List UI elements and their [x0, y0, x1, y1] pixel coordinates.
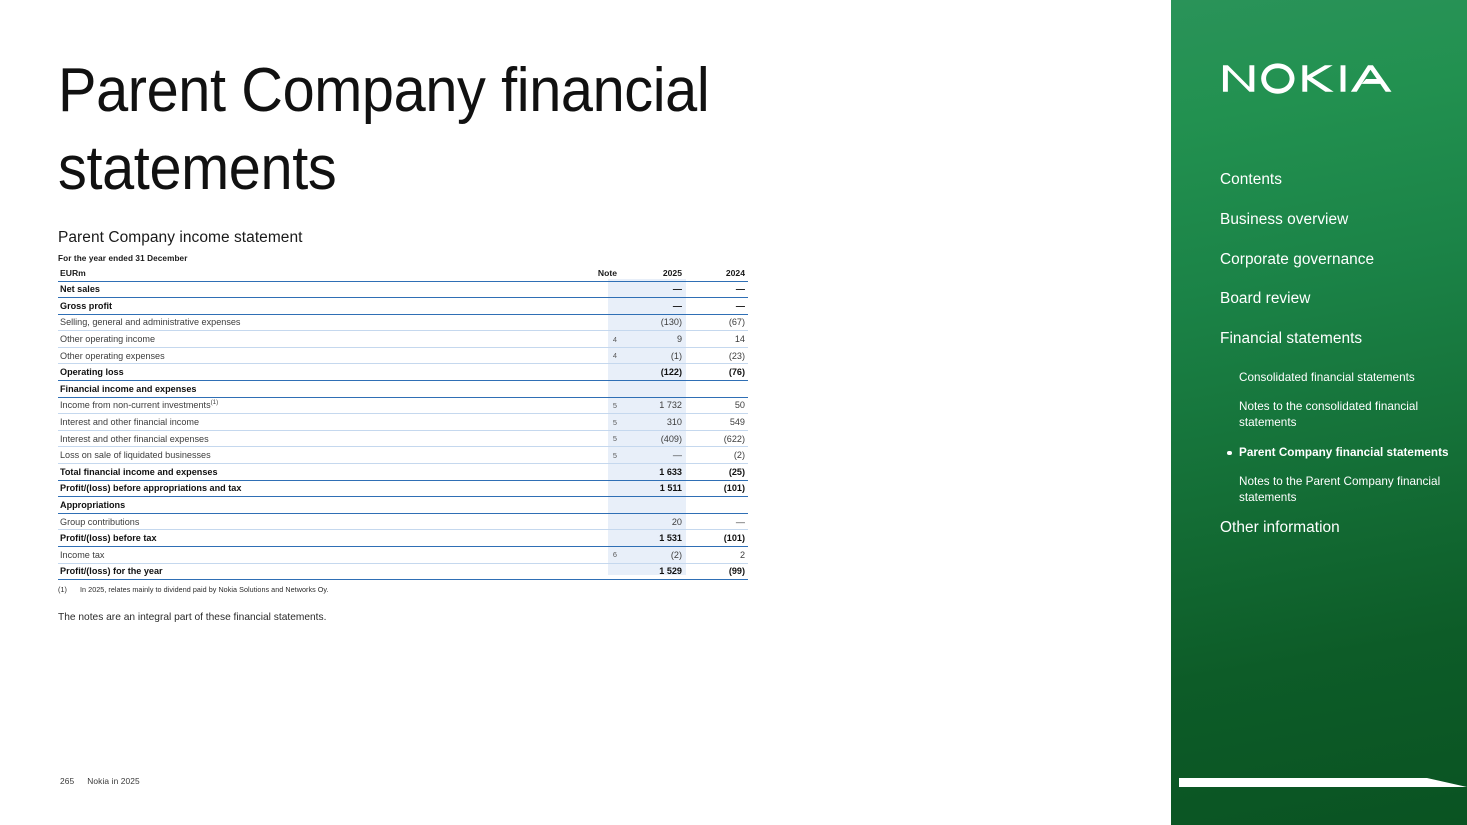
row-note-ref	[578, 464, 622, 481]
section-title: Parent Company income statement	[58, 229, 303, 247]
sidebar-item-parent-company-financial-statements[interactable]: Parent Company financial statements	[1239, 445, 1460, 461]
row-note-ref	[578, 513, 622, 530]
sidebar-item-financial-statements[interactable]: Financial statements	[1220, 330, 1460, 349]
sidebar-item-board-review[interactable]: Board review	[1220, 290, 1460, 309]
row-label: Selling, general and administrative expe…	[58, 314, 578, 331]
row-value-2024	[685, 381, 748, 398]
row-value-2025: 310	[622, 414, 685, 431]
table-row: Loss on sale of liquidated businesses5—(…	[58, 447, 748, 464]
row-label: Interest and other financial income	[58, 414, 578, 431]
table-row: Net sales——	[58, 281, 748, 298]
row-note-ref	[578, 381, 622, 398]
row-value-2025: —	[622, 447, 685, 464]
row-value-2024: (101)	[685, 530, 748, 547]
main-content: Parent Company financial statements Pare…	[0, 0, 1171, 825]
table-row: Income from non-current investments(1)51…	[58, 397, 748, 414]
row-label: Gross profit	[58, 298, 578, 315]
row-note-ref: 5	[578, 397, 622, 414]
table-row: Gross profit——	[58, 298, 748, 315]
page-root: Parent Company financial statements Pare…	[0, 0, 1467, 825]
row-label: Loss on sale of liquidated businesses	[58, 447, 578, 464]
row-label: Profit/(loss) for the year	[58, 563, 578, 580]
sidebar: ContentsBusiness overviewCorporate gover…	[1171, 0, 1467, 825]
row-value-2024: (76)	[685, 364, 748, 381]
income-statement-table: EURm Note 2025 2024 Net sales——Gross pro…	[58, 266, 748, 580]
column-header-label: EURm	[58, 266, 578, 281]
row-note-ref: 5	[578, 414, 622, 431]
sidebar-item-consolidated-financial-statements[interactable]: Consolidated financial statements	[1239, 370, 1460, 386]
row-value-2025: (2)	[622, 547, 685, 564]
row-value-2024: (101)	[685, 480, 748, 497]
row-value-2025: (409)	[622, 430, 685, 447]
row-note-ref	[578, 497, 622, 514]
row-label: Operating loss	[58, 364, 578, 381]
row-value-2025: 1 531	[622, 530, 685, 547]
row-value-2024: (99)	[685, 563, 748, 580]
row-value-2025: (122)	[622, 364, 685, 381]
row-value-2024: (622)	[685, 430, 748, 447]
row-value-2025: —	[622, 281, 685, 298]
row-label: Group contributions	[58, 513, 578, 530]
row-note-ref: 5	[578, 430, 622, 447]
row-label: Appropriations	[58, 497, 578, 514]
row-label: Other operating expenses	[58, 347, 578, 364]
row-value-2025: —	[622, 298, 685, 315]
row-value-2025: 1 529	[622, 563, 685, 580]
table-caption: For the year ended 31 December	[58, 254, 188, 263]
table-row: Appropriations	[58, 497, 748, 514]
row-value-2024	[685, 497, 748, 514]
row-label: Profit/(loss) before appropriations and …	[58, 480, 578, 497]
table-footnote: (1)In 2025, relates mainly to dividend p…	[58, 585, 329, 594]
footer-page-number: 265	[60, 776, 74, 786]
row-note-ref: 4	[578, 331, 622, 348]
row-label: Interest and other financial expenses	[58, 430, 578, 447]
row-footnote-marker: (1)	[211, 399, 219, 406]
row-label: Income tax	[58, 547, 578, 564]
table-row: Profit/(loss) before tax1 531(101)	[58, 530, 748, 547]
row-note-ref: 6	[578, 547, 622, 564]
nokia-logo-icon[interactable]	[1221, 55, 1417, 103]
table-row: Total financial income and expenses1 633…	[58, 464, 748, 481]
row-value-2024: (2)	[685, 447, 748, 464]
row-label: Other operating income	[58, 331, 578, 348]
sidebar-bottom-accent	[1179, 778, 1467, 787]
income-statement-table-wrap: EURm Note 2025 2024 Net sales——Gross pro…	[58, 266, 748, 580]
row-label: Profit/(loss) before tax	[58, 530, 578, 547]
row-note-ref	[578, 563, 622, 580]
row-value-2025: (130)	[622, 314, 685, 331]
sidebar-item-notes-to-the-parent-company-financial-statements[interactable]: Notes to the Parent Company financial st…	[1239, 474, 1460, 505]
column-header-note: Note	[578, 266, 622, 281]
table-row: Operating loss(122)(76)	[58, 364, 748, 381]
footer-document-title: Nokia in 2025	[87, 776, 140, 786]
table-row: Other operating income4914	[58, 331, 748, 348]
row-value-2025: 1 732	[622, 397, 685, 414]
row-value-2025: 1 511	[622, 480, 685, 497]
sidebar-item-contents[interactable]: Contents	[1220, 171, 1460, 190]
row-value-2024: (25)	[685, 464, 748, 481]
table-row: Financial income and expenses	[58, 381, 748, 398]
row-label: Net sales	[58, 281, 578, 298]
row-value-2025: 20	[622, 513, 685, 530]
table-row: Income tax6(2)2	[58, 547, 748, 564]
row-value-2025: (1)	[622, 347, 685, 364]
column-header-2024: 2024	[685, 266, 748, 281]
sidebar-item-notes-to-the-consolidated-financial-statements[interactable]: Notes to the consolidated financial stat…	[1239, 399, 1460, 430]
row-note-ref	[578, 314, 622, 331]
row-value-2024: 2	[685, 547, 748, 564]
row-value-2024: 50	[685, 397, 748, 414]
sidebar-nav: ContentsBusiness overviewCorporate gover…	[1220, 171, 1460, 559]
notes-statement: The notes are an integral part of these …	[58, 612, 326, 623]
row-label: Income from non-current investments(1)	[58, 397, 578, 414]
row-value-2024: —	[685, 513, 748, 530]
row-value-2024: 549	[685, 414, 748, 431]
column-header-2025: 2025	[622, 266, 685, 281]
table-row: Profit/(loss) for the year1 529(99)	[58, 563, 748, 580]
row-value-2025: 1 633	[622, 464, 685, 481]
page-footer: 265Nokia in 2025	[60, 776, 140, 786]
row-value-2024: —	[685, 281, 748, 298]
footnote-text: In 2025, relates mainly to dividend paid…	[80, 585, 329, 594]
row-value-2025: 9	[622, 331, 685, 348]
row-note-ref: 4	[578, 347, 622, 364]
row-value-2025	[622, 497, 685, 514]
row-note-ref	[578, 530, 622, 547]
row-value-2025	[622, 381, 685, 398]
sidebar-item-business-overview[interactable]: Business overview	[1220, 211, 1460, 230]
sidebar-item-corporate-governance[interactable]: Corporate governance	[1220, 251, 1460, 270]
table-row: Profit/(loss) before appropriations and …	[58, 480, 748, 497]
table-row: Interest and other financial income53105…	[58, 414, 748, 431]
row-label: Total financial income and expenses	[58, 464, 578, 481]
row-value-2024: (23)	[685, 347, 748, 364]
sidebar-item-other-information[interactable]: Other information	[1220, 519, 1460, 538]
table-row: Interest and other financial expenses5(4…	[58, 430, 748, 447]
row-value-2024: —	[685, 298, 748, 315]
table-row: Selling, general and administrative expe…	[58, 314, 748, 331]
table-row: Group contributions20—	[58, 513, 748, 530]
row-note-ref: 5	[578, 447, 622, 464]
table-row: Other operating expenses4(1)(23)	[58, 347, 748, 364]
row-value-2024: 14	[685, 331, 748, 348]
row-label: Financial income and expenses	[58, 381, 578, 398]
row-note-ref	[578, 281, 622, 298]
income-statement-body: Net sales——Gross profit——Selling, genera…	[58, 281, 748, 580]
table-header-row: EURm Note 2025 2024	[58, 266, 748, 281]
row-value-2024: (67)	[685, 314, 748, 331]
row-note-ref	[578, 364, 622, 381]
footnote-marker: (1)	[58, 585, 80, 594]
row-note-ref	[578, 298, 622, 315]
row-note-ref	[578, 480, 622, 497]
page-title: Parent Company financial statements	[58, 52, 876, 208]
